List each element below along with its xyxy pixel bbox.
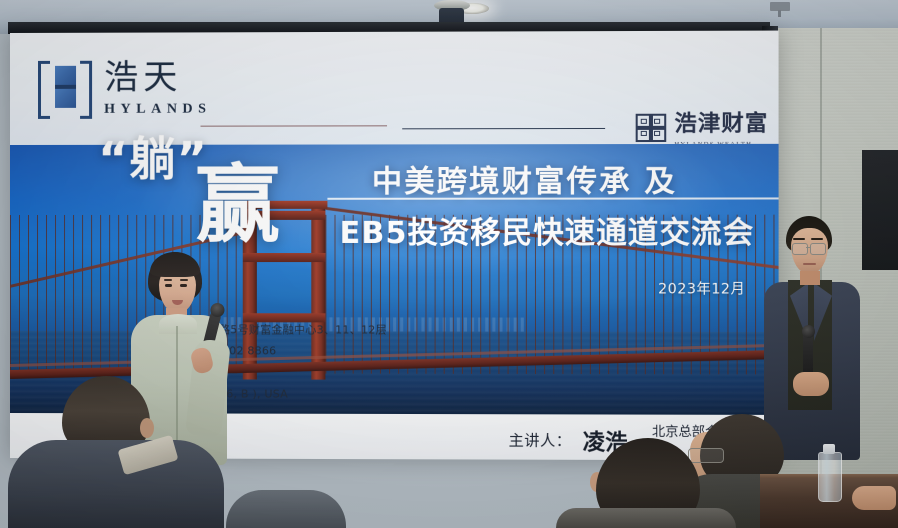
water-bottle-cap	[823, 444, 835, 454]
audience-ear-front-left	[140, 418, 154, 438]
speaker-label: 主讲人：	[509, 429, 572, 450]
slide-title-line1: 中美跨境财富传承 及	[372, 156, 677, 201]
man-neck	[800, 271, 820, 285]
man-brow-right	[811, 238, 823, 240]
sprinkler-icon	[770, 2, 790, 11]
slide-title-rule	[327, 197, 778, 199]
bridge-crossbeam-mid	[243, 253, 326, 262]
eyeglasses-lens-left-icon	[792, 243, 808, 255]
hylands-logo-en: HYLANDS	[104, 102, 211, 118]
audience-body-front-left	[8, 440, 224, 528]
slide-title-line2: EB5投资移民快速通道交流会	[340, 208, 755, 252]
audience-eyeglasses-icon	[688, 448, 724, 463]
divider-line-warm	[200, 125, 387, 126]
slide-kicker-quoted: “躺”	[98, 123, 208, 189]
eyeglasses-bridge-icon	[806, 247, 810, 248]
microphone-head-icon-right	[802, 325, 815, 338]
wall-panel-dark	[862, 150, 898, 270]
hylands-logo-cn: 浩天	[104, 60, 211, 94]
water-bottle	[818, 452, 842, 502]
audience-hand-on-table	[852, 486, 896, 510]
presenter-collar	[159, 314, 197, 334]
slide-date: 2023年12月	[658, 278, 745, 298]
man-hands	[793, 372, 829, 396]
wealth-logo-cn: 浩津财富	[674, 113, 778, 135]
presenter-placket	[176, 326, 178, 456]
presenter-eye-left	[165, 284, 172, 287]
hylands-logo: 浩天 HYLANDS	[38, 60, 212, 118]
wealth-seal-logo-icon	[636, 114, 667, 142]
hylands-h-logo-icon	[38, 61, 92, 113]
audience-shoulder	[226, 490, 346, 528]
man-brow-left	[793, 238, 805, 240]
presenter-brow-right	[180, 279, 188, 281]
eyeglasses-lens-right-icon	[810, 243, 826, 255]
divider-line-navy	[402, 128, 605, 129]
presenter-eye-right	[180, 284, 187, 287]
screenshot-root: 浩天 HYLANDS 浩津财富 HYLANDS WEALTH PLANNING	[0, 0, 898, 528]
header-divider	[200, 124, 605, 133]
slide-kicker-big: 赢	[195, 163, 280, 247]
presenter-brow-left	[164, 279, 172, 281]
audience-body-center	[556, 508, 736, 528]
